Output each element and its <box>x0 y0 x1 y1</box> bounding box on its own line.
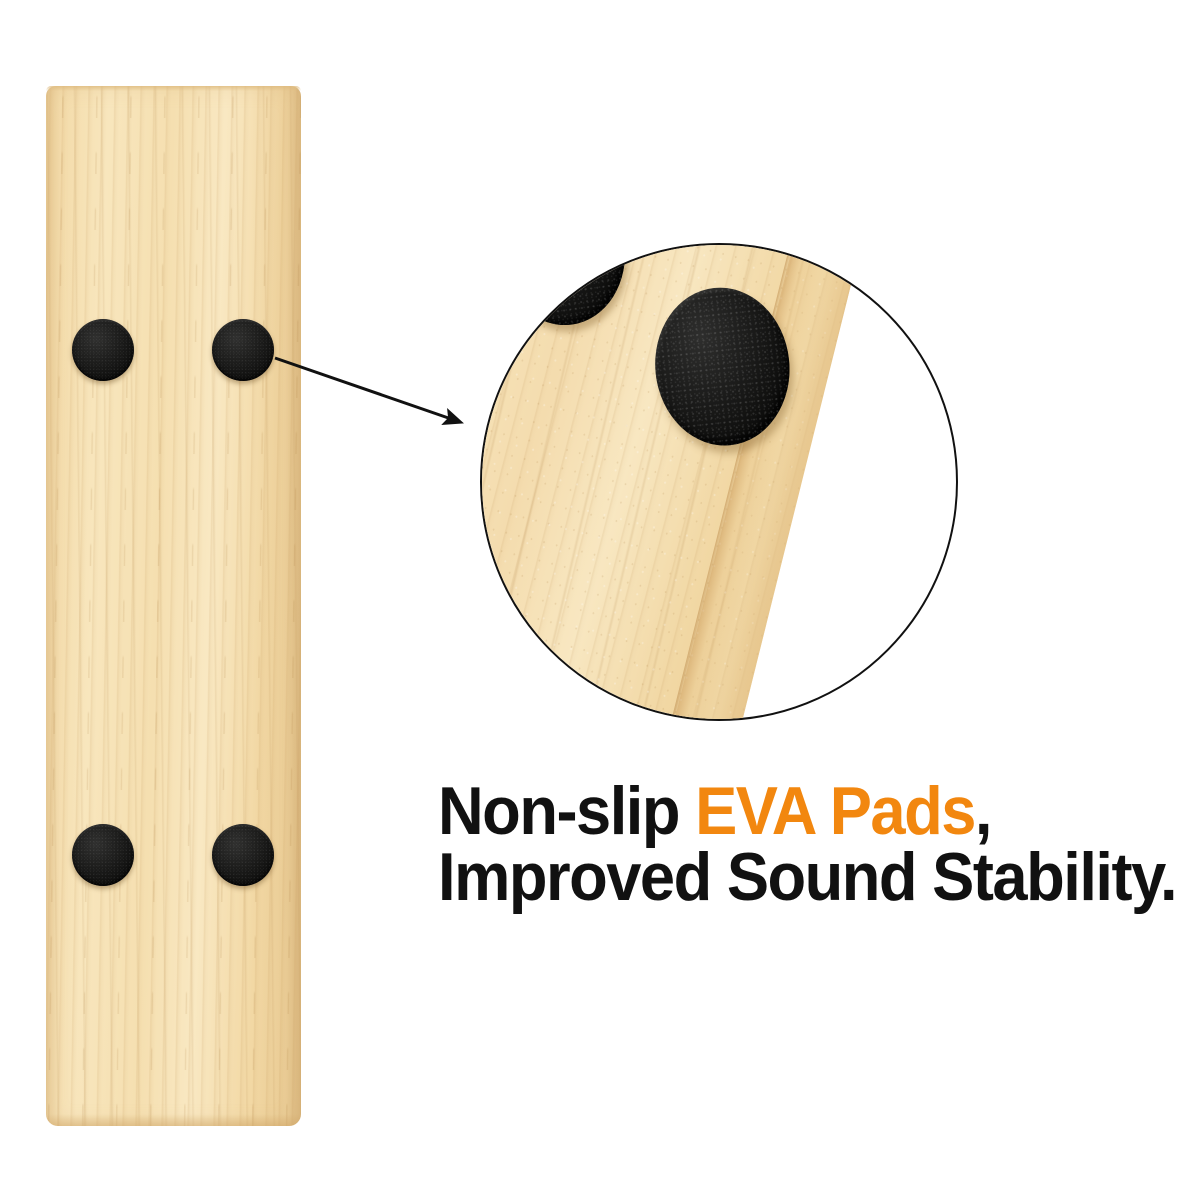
headline-line-2: Improved Sound Stability. <box>438 844 1134 910</box>
headline-suffix: , <box>975 773 991 849</box>
headline-accent: EVA Pads <box>695 773 975 849</box>
eva-pad-bottom-left <box>72 824 134 886</box>
eva-pad-top-left <box>72 319 134 381</box>
callout-arrow-line <box>275 358 460 422</box>
detail-circle <box>480 243 958 721</box>
callout-arrow <box>255 330 495 450</box>
wooden-block <box>46 86 301 1126</box>
detail-wood-surface <box>480 243 897 721</box>
product-feature-canvas: Non-slip EVA Pads, Improved Sound Stabil… <box>0 0 1200 1200</box>
wood-grain-texture <box>46 86 301 1126</box>
wood-top-edge <box>46 86 301 91</box>
eva-pad-bottom-right <box>212 824 274 886</box>
headline-line-1: Non-slip EVA Pads, <box>438 778 1134 844</box>
headline: Non-slip EVA Pads, Improved Sound Stabil… <box>438 778 1134 910</box>
headline-prefix: Non-slip <box>438 773 695 849</box>
wood-bottom-edge <box>46 1114 301 1126</box>
